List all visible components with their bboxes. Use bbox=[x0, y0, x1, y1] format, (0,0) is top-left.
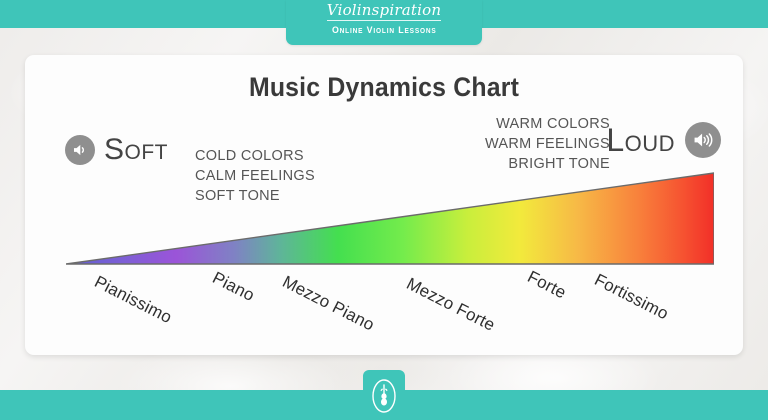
dynamics-gradient-triangle bbox=[66, 170, 714, 266]
loud-attribute-1: WARM COLORS bbox=[485, 114, 610, 134]
speaker-low-icon bbox=[65, 135, 95, 165]
site-tagline: Online Violin Lessons bbox=[332, 24, 437, 37]
loud-label: Loud bbox=[606, 123, 675, 157]
page-root: Violinspiration Online Violin Lessons Mu… bbox=[0, 0, 768, 420]
site-logo-tab[interactable]: Violinspiration Online Violin Lessons bbox=[286, 0, 482, 45]
violin-badge-icon[interactable] bbox=[363, 370, 405, 420]
loud-attribute-2: WARM FEELINGS bbox=[485, 134, 610, 154]
soft-attribute-1: COLD COLORS bbox=[195, 146, 315, 166]
loud-group: Loud bbox=[606, 122, 721, 158]
page-title: Music Dynamics Chart bbox=[54, 72, 715, 103]
speaker-high-icon bbox=[685, 122, 721, 158]
soft-group: Soft bbox=[65, 134, 168, 166]
site-logo-text: Violinspiration bbox=[327, 2, 441, 21]
loud-attributes: WARM COLORS WARM FEELINGS BRIGHT TONE bbox=[485, 114, 610, 174]
soft-label: Soft bbox=[104, 134, 168, 166]
